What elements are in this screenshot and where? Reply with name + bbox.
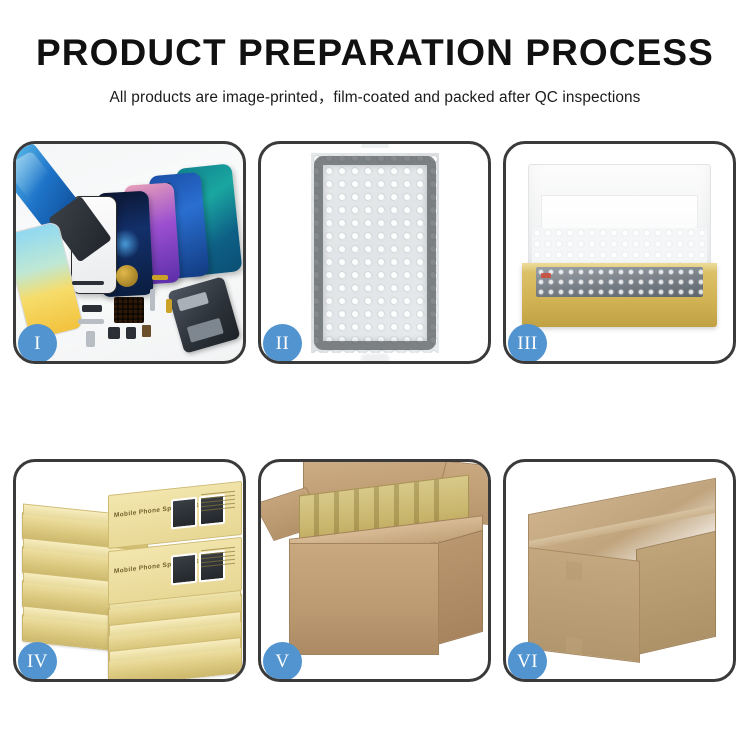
wrapped-screen-in-box: [536, 267, 703, 297]
box-label-spec-lines: [201, 491, 235, 514]
sealed-shipping-carton: [524, 496, 715, 653]
product-preparation-infographic: PRODUCT PREPARATION PROCESS All products…: [0, 0, 750, 750]
header: PRODUCT PREPARATION PROCESS All products…: [0, 0, 750, 107]
carton-side-panel: [437, 530, 483, 645]
open-shipping-carton: [281, 502, 470, 655]
spare-parts-cluster: [72, 269, 212, 355]
camera-module-part: [82, 305, 102, 312]
kraft-box-tray: [522, 263, 717, 327]
vibrator-part: [126, 327, 136, 339]
carton-tape-upper: [566, 561, 582, 581]
panel-step-3: III: [503, 141, 736, 364]
kraft-box-stack: Mobile Phone Spare Parts Mobile Phone Sp…: [22, 484, 233, 657]
open-kraft-box: [522, 164, 717, 327]
panel-step-1: I: [13, 141, 246, 364]
side-button-part: [150, 289, 155, 311]
badge-step-3: III: [508, 324, 547, 363]
panel-step-6: VI: [503, 459, 736, 682]
badge-step-6: VI: [508, 642, 547, 681]
panel-step-4: Mobile Phone Spare Parts Mobile Phone Sp…: [13, 459, 246, 682]
flex-cable-part: [72, 281, 104, 285]
panel-step-2: II: [258, 141, 491, 364]
bubble-wrap-sheet: [311, 153, 439, 353]
carton-tape-lower: [566, 637, 582, 655]
copper-coil-part: [116, 265, 138, 287]
box-label-screen-image-1: [171, 497, 197, 530]
box-label-screen-image-3: [171, 553, 197, 586]
sim-tray-part: [86, 331, 95, 347]
process-steps-grid: I II: [13, 141, 737, 682]
earpiece-slot: [361, 144, 389, 148]
contact-grid-part: [114, 297, 144, 323]
carton-right-face: [636, 531, 716, 655]
kraft-box-right-3: [108, 645, 242, 679]
box-label-spec-lines-2: [201, 547, 235, 570]
badge-step-2: II: [263, 324, 302, 363]
speaker-part: [108, 327, 120, 339]
page-title: PRODUCT PREPARATION PROCESS: [0, 34, 750, 73]
panel-step-5: V: [258, 459, 491, 682]
badge-step-4: IV: [18, 642, 57, 681]
badge-step-1: I: [18, 324, 57, 363]
gold-connector-part: [152, 275, 168, 280]
home-button: [360, 353, 390, 362]
phone-screen-under-wrap: [314, 156, 436, 350]
carton-front-panel: [289, 543, 439, 655]
carton-front-face: [528, 547, 640, 663]
badge-step-5: V: [263, 642, 302, 681]
screw-part: [166, 299, 172, 313]
ic-chip-part: [142, 325, 151, 337]
bracket-part: [78, 319, 104, 324]
page-subtitle: All products are image-printed，film-coat…: [0, 85, 750, 107]
